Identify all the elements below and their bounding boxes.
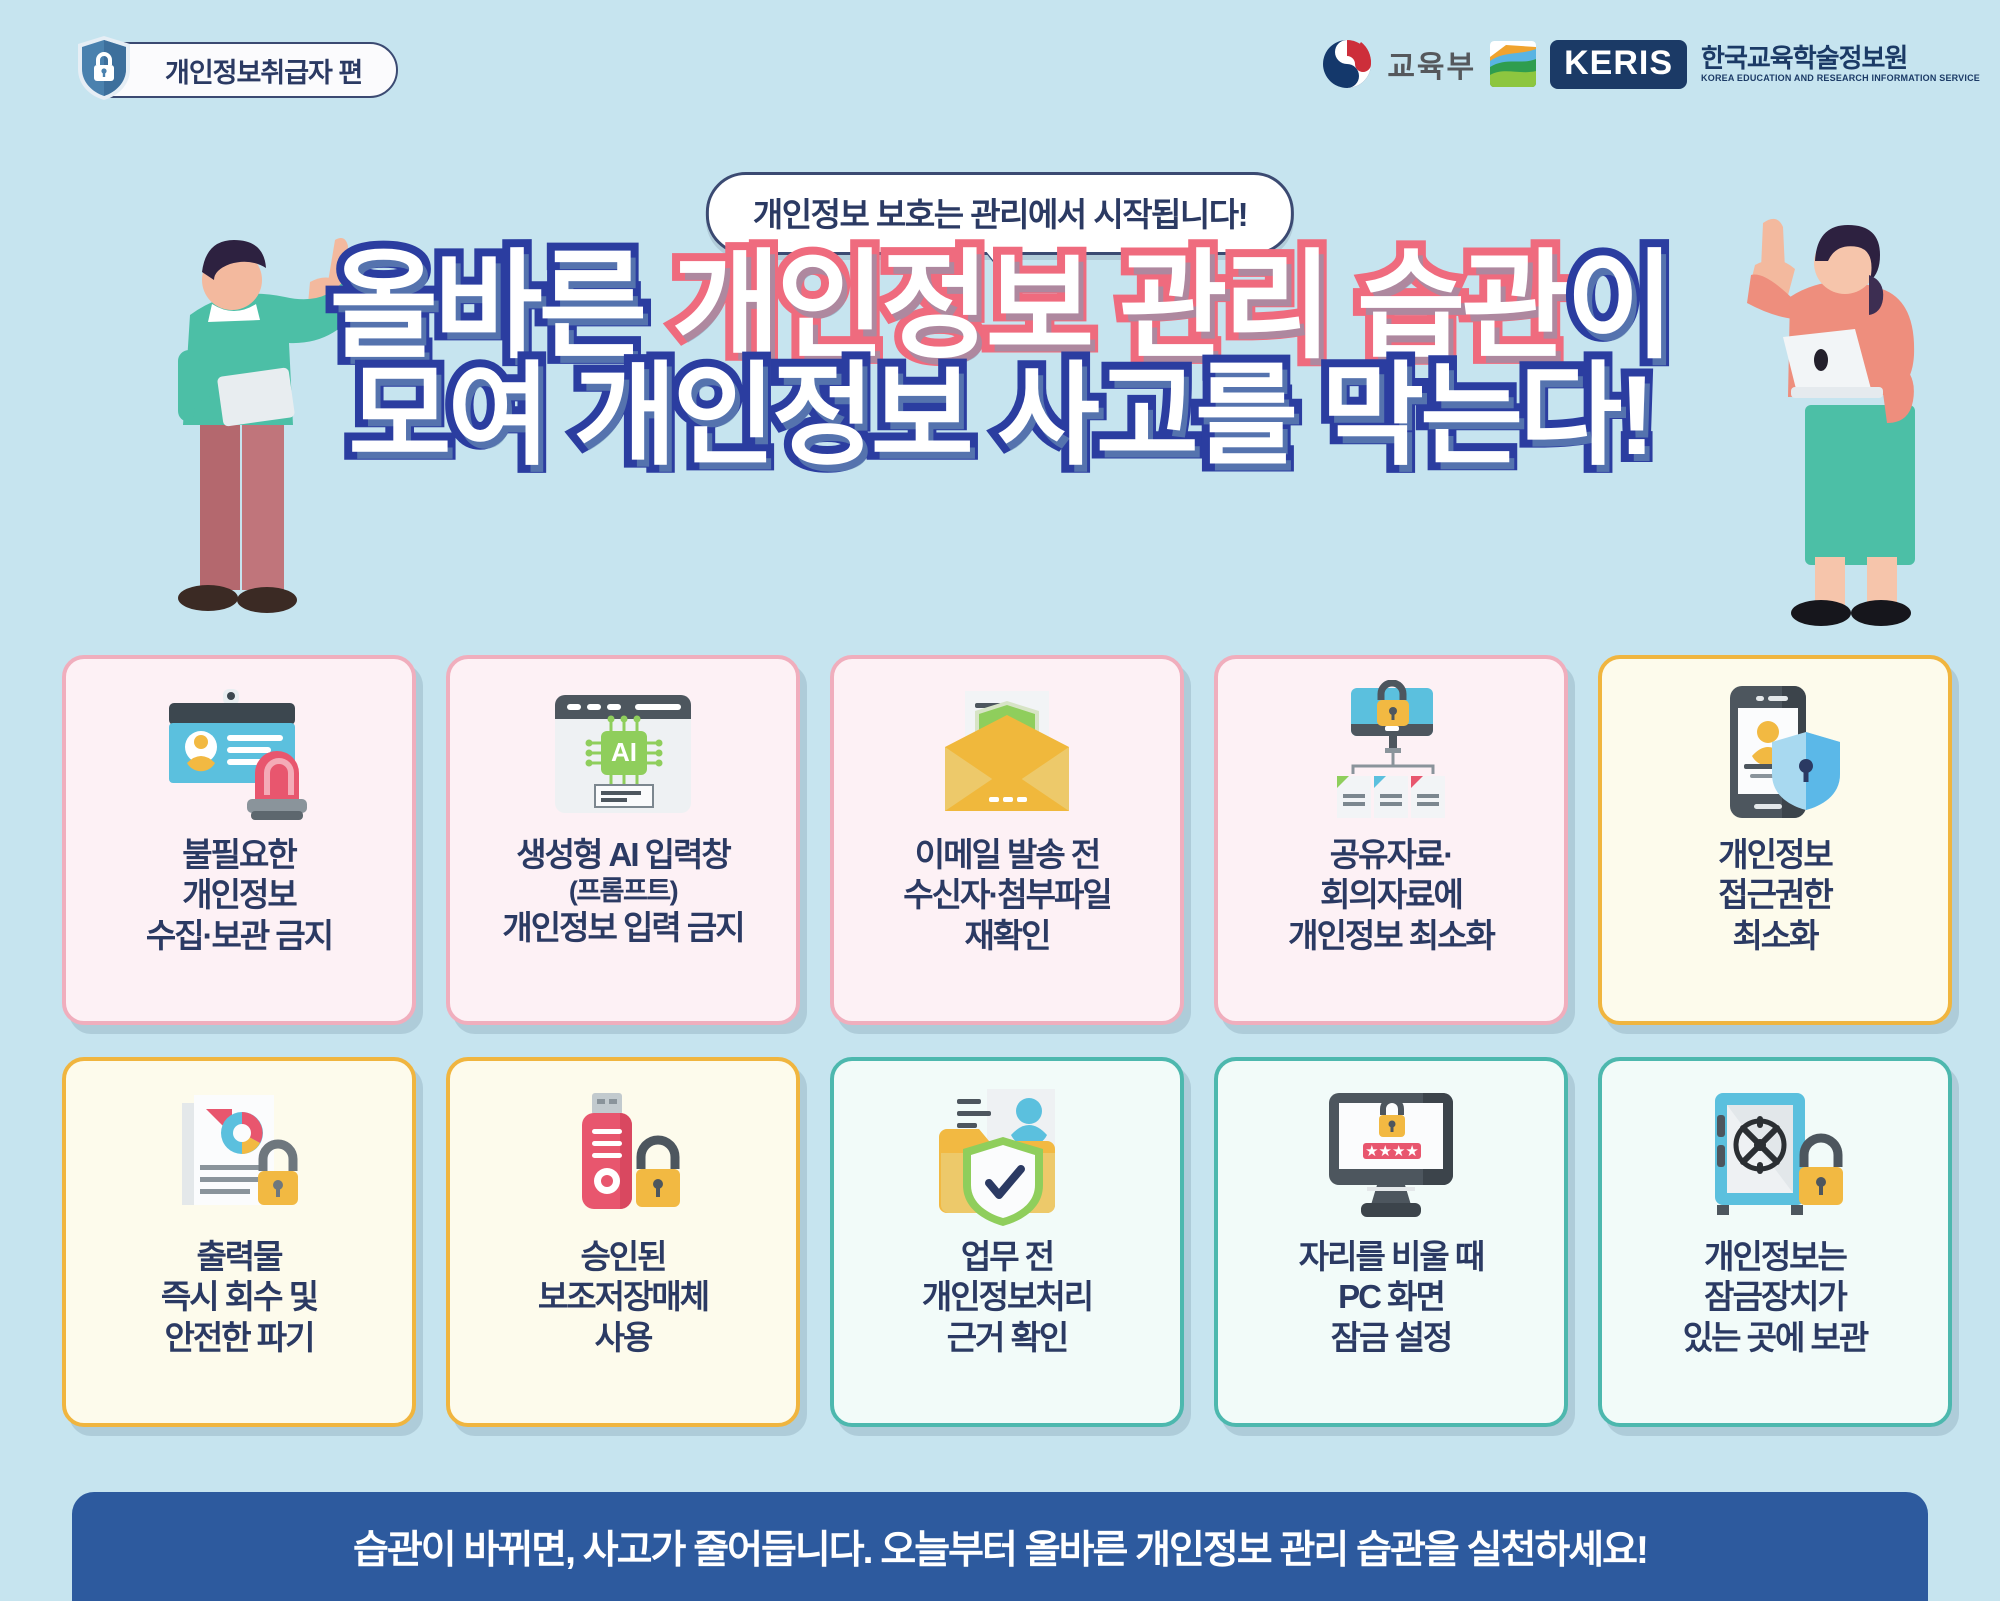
ministry-of-education-label: 교육부 — [1387, 42, 1476, 86]
tip-line: 불필요한 — [146, 835, 332, 875]
safe-vault-lock-icon — [1695, 1083, 1855, 1231]
tip-card-8[interactable]: 업무 전 개인정보처리 근거 확인 — [830, 1057, 1184, 1427]
tip-line: 개인정보 — [146, 875, 332, 915]
tip-card-10-text: 개인정보는 잠금장치가 있는 곳에 보관 — [1683, 1237, 1868, 1358]
tip-line: 안전한 파기 — [161, 1318, 317, 1358]
tip-line: 즉시 회수 및 — [161, 1277, 317, 1317]
folder-shield-check-icon — [927, 1083, 1087, 1231]
svg-text:★★★★: ★★★★ — [1365, 1143, 1419, 1160]
speech-bubble-text: 개인정보 보호는 관리에서 시작됩니다! — [753, 196, 1247, 233]
tip-line-sub: (프롬프트) — [502, 875, 743, 908]
tip-line: 접근권한 — [1718, 875, 1831, 915]
page-header: 개인정보취급자 편 교육부 KERIS 한국교육학술정보원 KOREA EDUC… — [0, 0, 2000, 130]
audience-badge-label: 개인정보취급자 편 — [165, 51, 362, 90]
shield-lock-icon — [76, 35, 132, 101]
tip-line: 최소화 — [1718, 916, 1831, 956]
tip-card-1-text: 불필요한 개인정보 수집·보관 금지 — [146, 835, 332, 956]
tip-line: 개인정보처리 — [922, 1277, 1092, 1317]
tip-card-9[interactable]: ★★★★ 자리를 비울 때 PC 화면 잠금 설정 — [1214, 1057, 1568, 1427]
tip-card-4-text: 공유자료· 회의자료에 개인정보 최소화 — [1288, 835, 1494, 956]
footer-banner: 습관이 바뀌면, 사고가 줄어듭니다. 오늘부터 올바른 개인정보 관리 습관을… — [72, 1492, 1928, 1601]
svg-text:AI: AI — [611, 737, 637, 767]
tip-card-10[interactable]: 개인정보는 잠금장치가 있는 곳에 보관 — [1598, 1057, 1952, 1427]
title-line-2: 모여 개인정보 사고를 막는다! — [348, 353, 1651, 478]
shared-folder-lock-icon — [1311, 681, 1471, 829]
tip-line: 보조저장매체 — [538, 1277, 708, 1317]
tip-line: 승인된 — [538, 1237, 708, 1277]
email-shield-icon — [927, 681, 1087, 829]
ai-prompt-window-icon: AI — [543, 681, 703, 829]
tip-line: 개인정보 최소화 — [1288, 916, 1494, 956]
tip-line: 개인정보는 — [1683, 1237, 1868, 1277]
tip-line: 수신자·첨부파일 — [903, 875, 1111, 915]
smartphone-shield-icon — [1700, 681, 1850, 829]
tip-line: 회의자료에 — [1288, 875, 1494, 915]
footer-message: 습관이 바뀌면, 사고가 줄어듭니다. 오늘부터 올바른 개인정보 관리 습관을… — [353, 1519, 1647, 1575]
keris-english-name: KOREA EDUCATION AND RESEARCH INFORMATION… — [1701, 73, 1980, 83]
tip-card-5-text: 개인정보 접근권한 최소화 — [1718, 835, 1831, 956]
keris-korean-name: 한국교육학술정보원 — [1701, 45, 1980, 72]
tip-card-4[interactable]: 공유자료· 회의자료에 개인정보 최소화 — [1214, 655, 1568, 1025]
keris-wordmark: KERIS — [1550, 40, 1687, 89]
tip-line: 개인정보 — [1718, 835, 1831, 875]
tip-line: 사용 — [538, 1318, 708, 1358]
tip-line: PC 화면 — [1299, 1277, 1484, 1317]
logo-group: 교육부 KERIS 한국교육학술정보원 KOREA EDUCATION AND … — [1321, 38, 1980, 90]
tip-line: 생성형 AI 입력창 — [502, 835, 743, 875]
tip-line: 자리를 비울 때 — [1299, 1237, 1484, 1277]
tip-card-3-text: 이메일 발송 전 수신자·첨부파일 재확인 — [903, 835, 1111, 956]
tip-line: 공유자료· — [1288, 835, 1494, 875]
tip-card-3[interactable]: 이메일 발송 전 수신자·첨부파일 재확인 — [830, 655, 1184, 1025]
tip-card-6[interactable]: 출력물 즉시 회수 및 안전한 파기 — [62, 1057, 416, 1427]
usb-drive-lock-icon — [548, 1083, 698, 1231]
hero-title: 올바른 개인정보 관리 습관이 모여 개인정보 사고를 막는다! — [0, 248, 2000, 472]
tip-card-9-text: 자리를 비울 때 PC 화면 잠금 설정 — [1299, 1237, 1484, 1358]
tip-card-8-text: 업무 전 개인정보처리 근거 확인 — [922, 1237, 1092, 1358]
tip-card-7[interactable]: 승인된 보조저장매체 사용 — [446, 1057, 800, 1427]
tip-line: 업무 전 — [922, 1237, 1092, 1277]
id-card-siren-icon — [149, 681, 329, 829]
tip-line: 있는 곳에 보관 — [1683, 1318, 1868, 1358]
tip-card-6-text: 출력물 즉시 회수 및 안전한 파기 — [161, 1237, 317, 1358]
tip-line: 근거 확인 — [922, 1318, 1092, 1358]
keris-symbol-icon — [1490, 41, 1536, 87]
printed-document-lock-icon — [164, 1083, 314, 1231]
tip-card-2[interactable]: AI 생성형 AI 입력창 (프롬프트) — [446, 655, 800, 1025]
tip-line: 이메일 발송 전 — [903, 835, 1111, 875]
tip-card-1[interactable]: 불필요한 개인정보 수집·보관 금지 — [62, 655, 416, 1025]
tip-line: 출력물 — [161, 1237, 317, 1277]
taegeuk-icon — [1321, 38, 1373, 90]
tip-line: 개인정보 입력 금지 — [502, 908, 743, 948]
tip-line: 수집·보관 금지 — [146, 916, 332, 956]
tip-line: 잠금장치가 — [1683, 1277, 1868, 1317]
tip-card-5[interactable]: 개인정보 접근권한 최소화 — [1598, 655, 1952, 1025]
tip-card-2-text: 생성형 AI 입력창 (프롬프트) 개인정보 입력 금지 — [502, 835, 743, 948]
tips-card-grid: 불필요한 개인정보 수집·보관 금지 AI — [62, 655, 1942, 1427]
tip-line: 잠금 설정 — [1299, 1318, 1484, 1358]
hero-section: 개인정보 보호는 관리에서 시작됩니다! 올바른 개인정보 관리 습관이 모여 … — [0, 130, 2000, 650]
keris-name-block: 한국교육학술정보원 KOREA EDUCATION AND RESEARCH I… — [1701, 45, 1980, 82]
tip-card-7-text: 승인된 보조저장매체 사용 — [538, 1237, 708, 1358]
monitor-lock-password-icon: ★★★★ — [1311, 1083, 1471, 1231]
tip-line: 재확인 — [903, 916, 1111, 956]
